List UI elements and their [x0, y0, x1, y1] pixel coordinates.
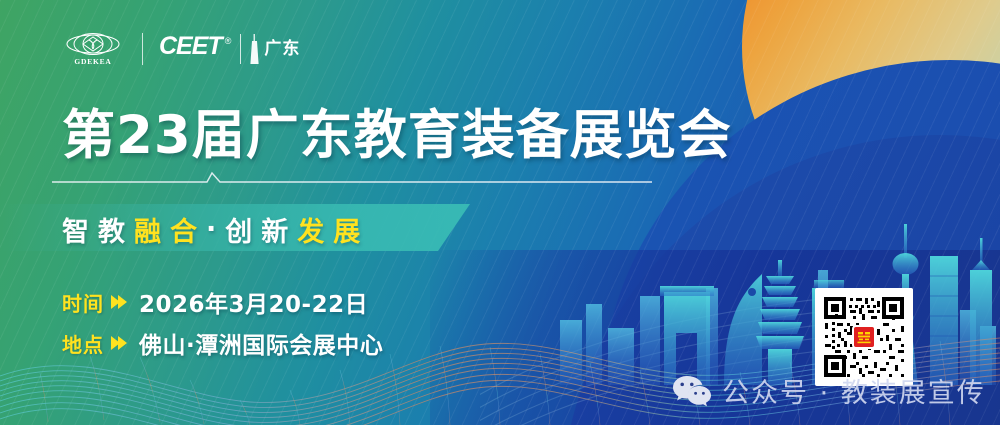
- registered-mark-icon: ®: [225, 36, 232, 46]
- slogan: 智 教 融 合 · 创 新 发 展: [62, 210, 369, 249]
- brand-divider: [240, 34, 241, 64]
- header-logos: GDEKEA CEET ® 广东: [62, 28, 300, 70]
- info-label-venue: 地点: [62, 329, 104, 358]
- wechat-account[interactable]: 公众号 · 教装展宣传: [672, 371, 986, 410]
- event-banner: GDEKEA CEET ® 广东 第23届广东教育装备展览会 智 教 融 合 ·…: [0, 0, 1000, 425]
- double-right-arrow-icon: [111, 295, 127, 309]
- gdekea-abbr: GDEKEA: [74, 57, 111, 66]
- double-right-arrow-icon-2: [111, 336, 127, 350]
- slogan-char-3: 融: [134, 210, 170, 249]
- info-label-date: 时间: [62, 288, 104, 317]
- page-title: 第23届广东教育装备展览会: [62, 93, 732, 169]
- notched-rule-decor: [52, 170, 652, 188]
- slogan-char-6: 新: [261, 210, 297, 249]
- event-info: 时间 2026年3月20-22日 地点 佛山·潭洲国际会展中心: [62, 288, 383, 370]
- wechat-account-label: 公众号 · 教装展宣传: [722, 371, 986, 410]
- slogan-char-4: 合: [170, 210, 206, 249]
- slogan-char-8: 展: [333, 210, 369, 249]
- logo-divider: [142, 33, 143, 65]
- slogan-separator: ·: [206, 214, 225, 245]
- gdekea-logo[interactable]: GDEKEA: [62, 33, 124, 66]
- qr-matrix: [820, 293, 908, 381]
- slogan-char-2: 教: [98, 210, 134, 249]
- slogan-char-7: 发: [297, 210, 333, 249]
- gdekea-emblem-icon: [65, 33, 121, 55]
- canton-tower-icon: [248, 34, 261, 64]
- info-value-venue: 佛山·潭洲国际会展中心: [139, 326, 383, 360]
- slogan-char-5: 创: [225, 210, 261, 249]
- info-value-date: 2026年3月20-22日: [139, 285, 368, 319]
- info-row-venue: 地点 佛山·潭洲国际会展中心: [62, 329, 383, 357]
- region-label: 广东: [264, 34, 300, 64]
- ceet-logo[interactable]: CEET ® 广东: [159, 34, 300, 64]
- slogan-char-1: 智: [62, 210, 98, 249]
- exhibition-seal-icon: [852, 325, 876, 349]
- wechat-icon: [672, 374, 712, 407]
- info-row-date: 时间 2026年3月20-22日: [62, 288, 383, 316]
- seal-glyph: [856, 330, 872, 345]
- ceet-wordmark: CEET: [159, 34, 222, 59]
